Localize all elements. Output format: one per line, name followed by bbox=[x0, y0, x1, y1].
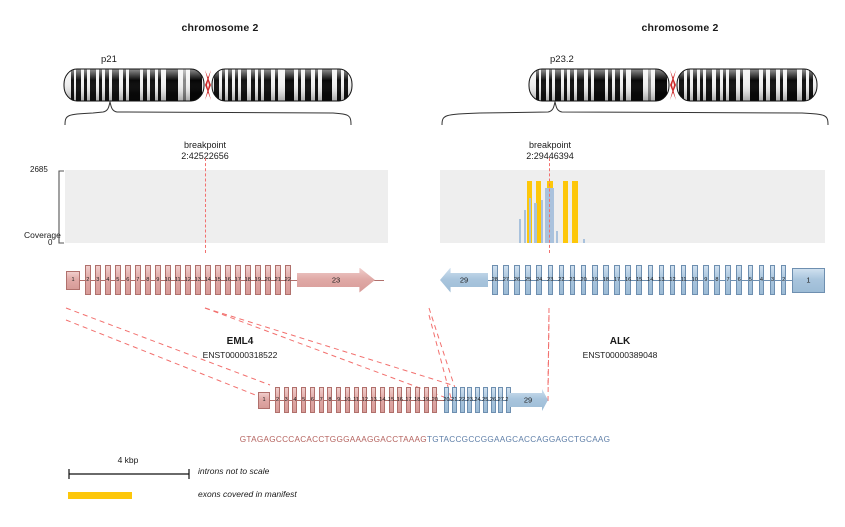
exon-label: 17 bbox=[235, 277, 241, 283]
exon-box: 16 bbox=[625, 265, 631, 295]
left-coverage-panel bbox=[65, 170, 388, 243]
exon-box: 20 bbox=[581, 265, 587, 295]
exon-box: 9 bbox=[155, 265, 161, 295]
exon-label: 2 bbox=[276, 397, 279, 403]
exon-box: 19 bbox=[592, 265, 598, 295]
exon-label: 16 bbox=[225, 277, 231, 283]
exon-box: 16 bbox=[225, 265, 231, 295]
exon-box: 21 bbox=[452, 387, 457, 413]
exon-box: 4 bbox=[292, 387, 297, 413]
exon-label: 29 bbox=[524, 396, 532, 405]
exon-label: 17 bbox=[614, 277, 620, 283]
exon-label: 25 bbox=[525, 277, 531, 283]
exon-box: 26 bbox=[491, 387, 496, 413]
manifest-legend-swatch bbox=[68, 492, 132, 499]
left-band-label: p21 bbox=[101, 54, 117, 65]
exon-box: 23 bbox=[297, 268, 375, 293]
exon-label: 7 bbox=[320, 397, 323, 403]
exon-box: 15 bbox=[389, 387, 394, 413]
exon-box: 29 bbox=[440, 268, 488, 293]
exon-box: 8 bbox=[714, 265, 720, 295]
intron-line bbox=[444, 280, 821, 281]
exon-label: 19 bbox=[423, 397, 429, 403]
exon-box: 20 bbox=[444, 387, 449, 413]
exon-label: 6 bbox=[311, 397, 314, 403]
exon-label: 23 bbox=[332, 276, 340, 285]
manifest-exon-bar bbox=[563, 181, 568, 243]
exon-box: 17 bbox=[235, 265, 241, 295]
scale-bar-label: 4 kbp bbox=[68, 455, 188, 465]
exon-label: 3 bbox=[285, 397, 288, 403]
exon-box: 29 bbox=[508, 389, 548, 411]
exon-label: 27 bbox=[498, 397, 504, 403]
exon-label: 20 bbox=[265, 277, 271, 283]
exon-box: 15 bbox=[215, 265, 221, 295]
exon-box: 23 bbox=[548, 265, 554, 295]
exon-box: 4 bbox=[105, 265, 111, 295]
exon-box: 20 bbox=[432, 387, 437, 413]
left-ideogram bbox=[63, 68, 353, 102]
exon-label: 3 bbox=[771, 277, 774, 283]
exon-label: 13 bbox=[195, 277, 201, 283]
eml4-transcript-id: ENST00000318522 bbox=[180, 350, 300, 360]
right-breakpoint-title: breakpoint bbox=[485, 140, 615, 151]
exon-box: 18 bbox=[603, 265, 609, 295]
right-breakpoint-label: breakpoint 2:29446394 bbox=[485, 140, 615, 162]
exon-box: 10 bbox=[345, 387, 350, 413]
exon-label: 12 bbox=[362, 397, 368, 403]
exon-box: 11 bbox=[175, 265, 181, 295]
exon-label: 26 bbox=[514, 277, 520, 283]
exon-label: 2 bbox=[782, 277, 785, 283]
coverage-axis-bracket bbox=[55, 170, 65, 244]
exon-box: 8 bbox=[145, 265, 151, 295]
exon-label: 1 bbox=[806, 276, 810, 285]
exon-box: 2 bbox=[85, 265, 91, 295]
exon-box: 28 bbox=[492, 265, 498, 295]
exon-box: 7 bbox=[725, 265, 731, 295]
exon-label: 1 bbox=[262, 397, 265, 403]
exon-label: 5 bbox=[749, 277, 752, 283]
exon-label: 13 bbox=[658, 277, 664, 283]
fusion-transcript-track: 1234567891011121314151617181920202122232… bbox=[258, 382, 548, 422]
introns-note: introns not to scale bbox=[198, 466, 269, 476]
exon-box: 7 bbox=[135, 265, 141, 295]
read-coverage-bar bbox=[519, 219, 521, 243]
exon-label: 23 bbox=[547, 277, 553, 283]
exon-label: 14 bbox=[647, 277, 653, 283]
exon-label: 8 bbox=[146, 277, 149, 283]
exon-label: 16 bbox=[625, 277, 631, 283]
exon-box: 20 bbox=[265, 265, 271, 295]
exon-box: 1 bbox=[258, 392, 270, 409]
exon-label: 14 bbox=[379, 397, 385, 403]
read-coverage-bar bbox=[524, 210, 526, 243]
exon-label: 20 bbox=[432, 397, 438, 403]
exon-box: 17 bbox=[614, 265, 620, 295]
exon-box: 18 bbox=[245, 265, 251, 295]
exon-label: 18 bbox=[414, 397, 420, 403]
exon-box: 2 bbox=[275, 387, 280, 413]
exon-box: 8 bbox=[327, 387, 332, 413]
exon-box: 5 bbox=[301, 387, 306, 413]
exon-label: 7 bbox=[136, 277, 139, 283]
exon-box: 12 bbox=[670, 265, 676, 295]
exon-label: 10 bbox=[165, 277, 171, 283]
exon-label: 7 bbox=[727, 277, 730, 283]
fusion-sequence-right: TGTACCGCCGGAAGCACCAGGAGCTGCAAG bbox=[427, 435, 610, 444]
exon-label: 25 bbox=[482, 397, 488, 403]
exon-label: 27 bbox=[503, 277, 509, 283]
exon-box: 27 bbox=[503, 265, 509, 295]
exon-box: 10 bbox=[165, 265, 171, 295]
right-breakpoint-position: 2:29446394 bbox=[485, 151, 615, 162]
exon-label: 18 bbox=[603, 277, 609, 283]
read-coverage-bar bbox=[541, 200, 543, 243]
exon-box: 14 bbox=[648, 265, 654, 295]
exon-label: 11 bbox=[681, 277, 687, 283]
exon-box: 5 bbox=[115, 265, 121, 295]
exon-label: 2 bbox=[86, 277, 89, 283]
exon-label: 5 bbox=[116, 277, 119, 283]
exon-box: 10 bbox=[692, 265, 698, 295]
exon-label: 8 bbox=[715, 277, 718, 283]
coverage-axis-max: 2685 bbox=[30, 165, 48, 174]
alk-transcript-id: ENST00000389048 bbox=[560, 350, 680, 360]
exon-label: 19 bbox=[592, 277, 598, 283]
manifest-exon-bar bbox=[536, 181, 541, 243]
exon-box: 7 bbox=[319, 387, 324, 413]
exon-label: 12 bbox=[185, 277, 191, 283]
exon-label: 24 bbox=[536, 277, 542, 283]
exon-box: 6 bbox=[125, 265, 131, 295]
alk-gene-track: 2928272625242322212019181716151413121110… bbox=[440, 258, 825, 306]
left-breakpoint-dashline bbox=[205, 158, 206, 253]
exon-box: 3 bbox=[284, 387, 289, 413]
exon-box: 11 bbox=[681, 265, 687, 295]
manifest-exon-bar bbox=[572, 181, 578, 243]
exon-box: 6 bbox=[736, 265, 742, 295]
exon-label: 11 bbox=[175, 277, 181, 283]
exon-label: 16 bbox=[397, 397, 403, 403]
right-breakpoint-dashline bbox=[549, 158, 550, 253]
exon-box: 4 bbox=[759, 265, 765, 295]
exon-box: 26 bbox=[514, 265, 520, 295]
exon-label: 21 bbox=[451, 397, 457, 403]
exon-label: 5 bbox=[302, 397, 305, 403]
exon-box: 22 bbox=[460, 387, 465, 413]
left-brace bbox=[63, 101, 353, 127]
exon-label: 20 bbox=[443, 397, 449, 403]
exon-label: 1 bbox=[71, 277, 74, 283]
exon-box: 14 bbox=[205, 265, 211, 295]
exon-label: 28 bbox=[492, 277, 498, 283]
exon-label: 4 bbox=[760, 277, 763, 283]
exon-label: 10 bbox=[344, 397, 350, 403]
exon-label: 15 bbox=[636, 277, 642, 283]
exon-box: 11 bbox=[354, 387, 359, 413]
exon-label: 10 bbox=[692, 277, 698, 283]
fusion-sequence-left: GTAGAGCCCACACCTGGGAAAGGACCTAAAG bbox=[240, 435, 427, 444]
exon-label: 4 bbox=[106, 277, 109, 283]
exon-box: 22 bbox=[559, 265, 565, 295]
right-brace bbox=[440, 101, 830, 127]
exon-box: 5 bbox=[748, 265, 754, 295]
exon-label: 9 bbox=[704, 277, 707, 283]
exon-box: 2 bbox=[781, 265, 787, 295]
exon-box: 12 bbox=[185, 265, 191, 295]
fusion-breakpoint-sequence: GTAGAGCCCACACCTGGGAAAGGACCTAAAGTGTACCGCC… bbox=[145, 426, 700, 444]
exon-label: 22 bbox=[558, 277, 564, 283]
exon-label: 21 bbox=[569, 277, 575, 283]
exon-label: 4 bbox=[293, 397, 296, 403]
exon-label: 19 bbox=[255, 277, 261, 283]
exon-label: 9 bbox=[156, 277, 159, 283]
exon-label: 8 bbox=[328, 397, 331, 403]
exon-label: 23 bbox=[467, 397, 473, 403]
exon-box: 14 bbox=[380, 387, 385, 413]
exon-box: 21 bbox=[570, 265, 576, 295]
exon-box: 1 bbox=[792, 268, 825, 293]
exon-label: 12 bbox=[669, 277, 675, 283]
exon-label: 24 bbox=[474, 397, 480, 403]
left-breakpoint-title: breakpoint bbox=[140, 140, 270, 151]
exon-label: 14 bbox=[205, 277, 211, 283]
exon-label: 29 bbox=[460, 276, 468, 285]
exon-box: 19 bbox=[424, 387, 429, 413]
exon-label: 22 bbox=[285, 277, 291, 283]
exon-label: 17 bbox=[405, 397, 411, 403]
exon-box: 24 bbox=[536, 265, 542, 295]
read-coverage-bar bbox=[583, 239, 585, 243]
exon-label: 6 bbox=[126, 277, 129, 283]
alk-gene-name: ALK bbox=[560, 336, 680, 347]
exon-box: 9 bbox=[336, 387, 341, 413]
right-band-label: p23.2 bbox=[550, 54, 574, 65]
exon-box: 24 bbox=[475, 387, 480, 413]
read-coverage-bar bbox=[529, 198, 531, 243]
right-ideogram bbox=[528, 68, 818, 102]
exon-label: 22 bbox=[459, 397, 465, 403]
exon-label: 15 bbox=[388, 397, 394, 403]
exon-label: 20 bbox=[581, 277, 587, 283]
exon-label: 15 bbox=[215, 277, 221, 283]
exon-box: 16 bbox=[397, 387, 402, 413]
right-coverage-panel bbox=[440, 170, 825, 243]
exon-box: 13 bbox=[659, 265, 665, 295]
left-chromosome-title: chromosome 2 bbox=[120, 22, 320, 34]
exon-label: 3 bbox=[96, 277, 99, 283]
exon-label: 26 bbox=[490, 397, 496, 403]
manifest-legend-label: exons covered in manifest bbox=[198, 489, 297, 499]
exon-box: 18 bbox=[415, 387, 420, 413]
exon-label: 6 bbox=[738, 277, 741, 283]
right-chromosome-title: chromosome 2 bbox=[580, 22, 780, 34]
read-coverage-bar bbox=[556, 231, 558, 243]
exon-label: 11 bbox=[353, 397, 359, 403]
exon-label: 9 bbox=[337, 397, 340, 403]
exon-box: 17 bbox=[406, 387, 411, 413]
exon-box: 1 bbox=[66, 271, 80, 290]
exon-box: 25 bbox=[483, 387, 488, 413]
exon-box: 22 bbox=[285, 265, 291, 295]
exon-label: 21 bbox=[275, 277, 281, 283]
read-coverage-bar bbox=[534, 203, 537, 243]
exon-box: 15 bbox=[636, 265, 642, 295]
exon-box: 23 bbox=[467, 387, 472, 413]
exon-box: 6 bbox=[310, 387, 315, 413]
exon-box: 9 bbox=[703, 265, 709, 295]
eml4-gene-track: 1234567891011121314151617181920212223 bbox=[65, 258, 388, 306]
exon-box: 12 bbox=[362, 387, 367, 413]
exon-box: 19 bbox=[255, 265, 261, 295]
exon-box: 13 bbox=[371, 387, 376, 413]
exon-box: 3 bbox=[95, 265, 101, 295]
eml4-gene-name: EML4 bbox=[180, 336, 300, 347]
scale-bar bbox=[68, 468, 190, 480]
exon-box: 13 bbox=[195, 265, 201, 295]
exon-box: 25 bbox=[525, 265, 531, 295]
exon-box: 3 bbox=[770, 265, 776, 295]
exon-box: 21 bbox=[275, 265, 281, 295]
exon-box: 27 bbox=[498, 387, 503, 413]
exon-label: 18 bbox=[245, 277, 251, 283]
exon-label: 13 bbox=[370, 397, 376, 403]
